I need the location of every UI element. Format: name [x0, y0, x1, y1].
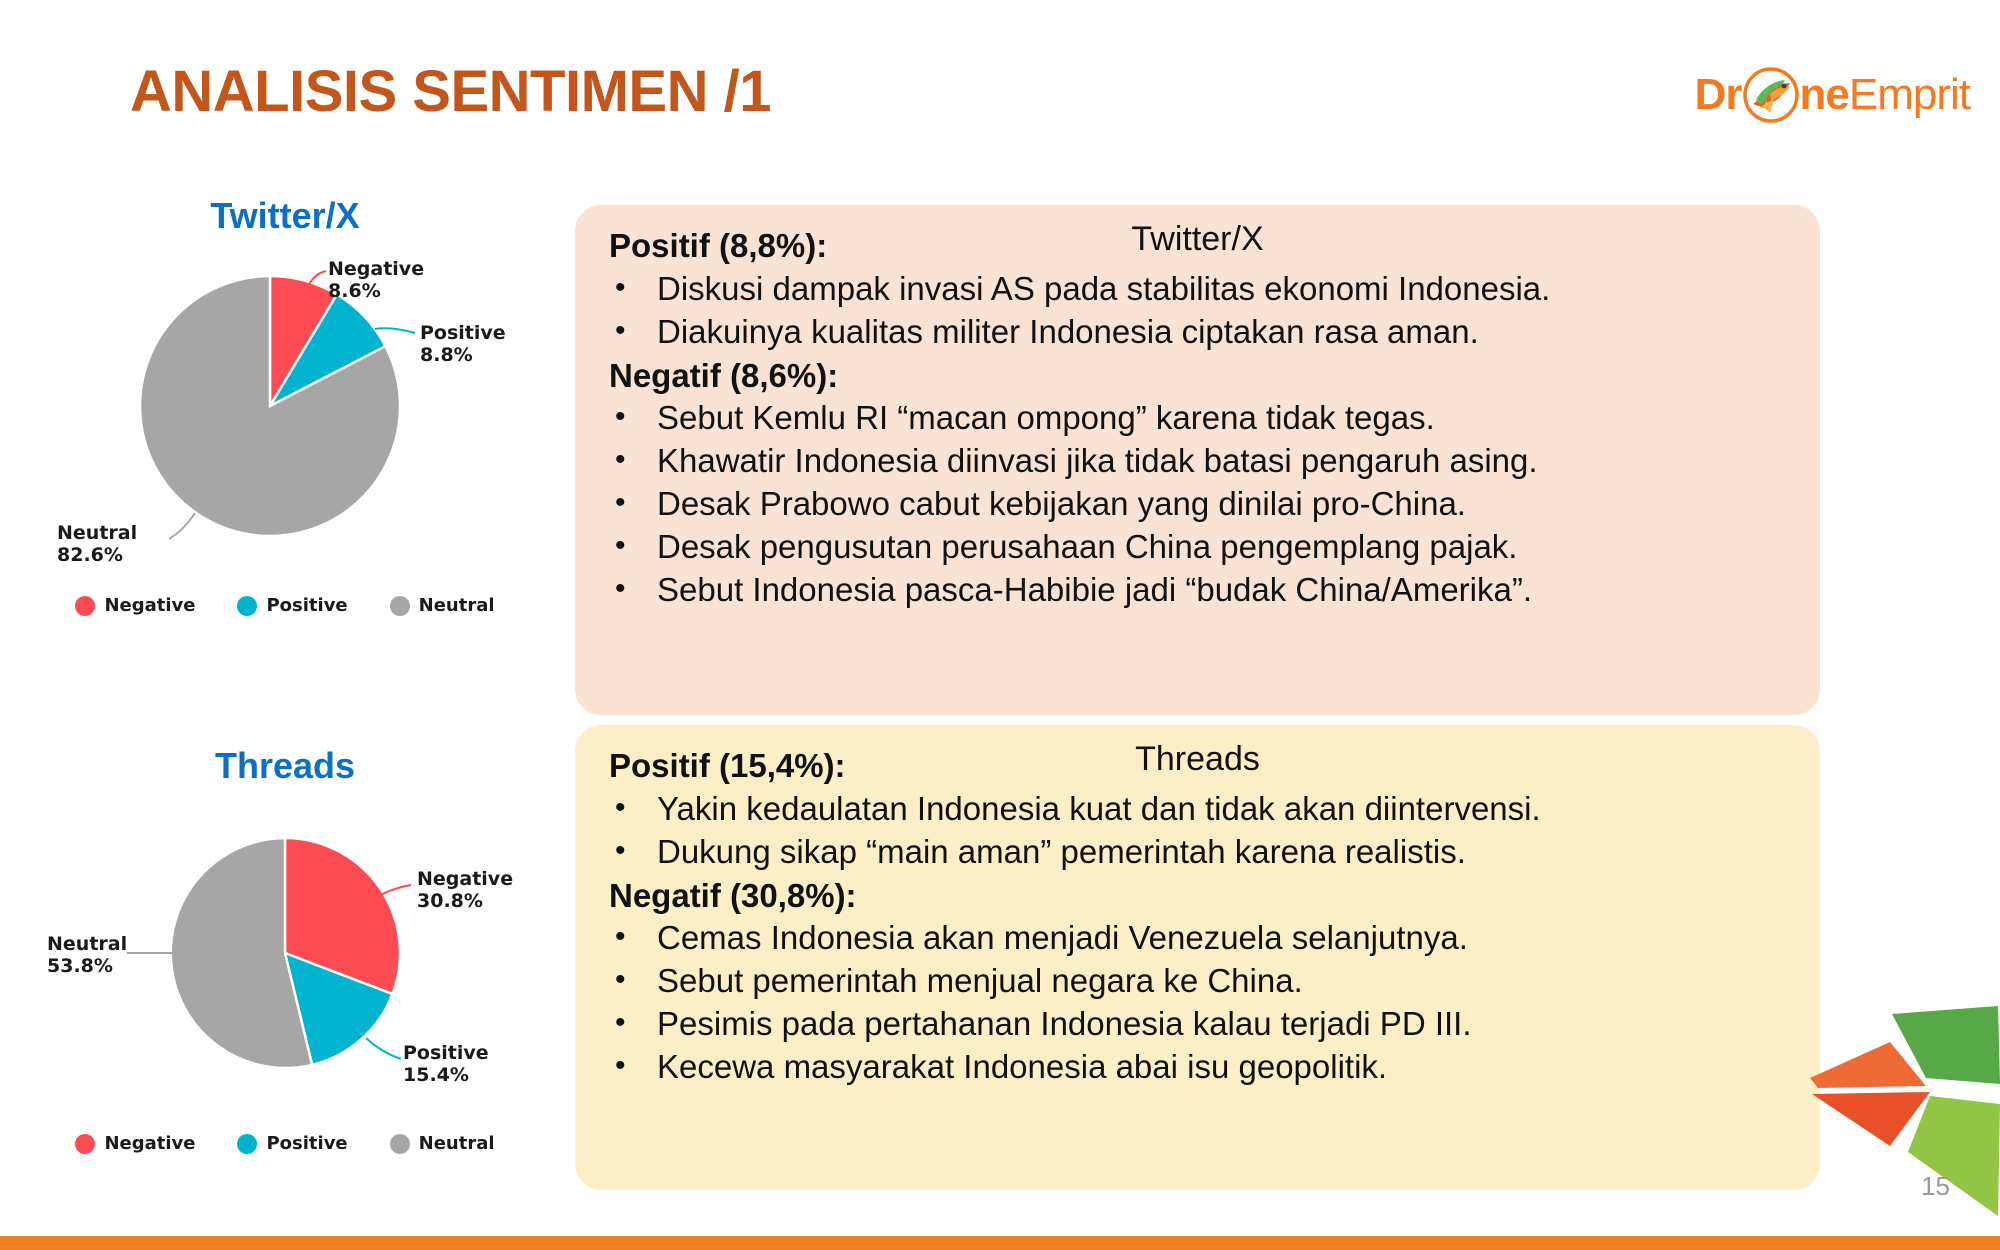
bullet-icon: •: [609, 483, 657, 522]
threads-label-neutral: Neutral 53.8%: [47, 934, 127, 978]
bullet-icon: •: [609, 268, 657, 307]
twitter-label-negative: Negative 8.6%: [328, 259, 424, 303]
list-item: • Diskusi dampak invasi AS pada stabilit…: [609, 268, 1786, 311]
threads-chart-title: Threads: [45, 745, 525, 787]
bullet-icon: •: [609, 960, 657, 999]
bullet-icon: •: [609, 526, 657, 565]
twitter-negative-bullet-3: Desak Prabowo cabut kebijakan yang dinil…: [657, 483, 1466, 526]
bullet-icon: •: [609, 831, 657, 870]
bullet-icon: •: [609, 917, 657, 956]
bottom-accent-bar: [0, 1236, 2000, 1250]
threads-negative-bullet-4: Kecewa masyarakat Indonesia abai isu geo…: [657, 1046, 1387, 1089]
twitter-legend-item-positive[interactable]: Positive: [237, 595, 347, 616]
twitter-pie-area: Negative 8.6% Positive 8.8% Neutral 82.6…: [45, 251, 525, 581]
threads-legend-label-neutral: Neutral: [419, 1133, 495, 1154]
threads-legend-label-positive: Positive: [266, 1133, 347, 1154]
drone-emprit-bird-logo-icon: [1740, 64, 1802, 126]
legend-dot-negative-icon: [75, 1134, 95, 1154]
logo-text-dr: Dr: [1695, 73, 1742, 117]
slide-root: ANALISIS SENTIMEN /1 Dr neEmprit Twitter…: [0, 0, 2000, 1250]
twitter-chart-title: Twitter/X: [45, 195, 525, 237]
threads-label-positive: Positive 15.4%: [403, 1043, 489, 1087]
twitter-legend-label-neutral: Neutral: [419, 595, 495, 616]
twitter-negative-bullet-2: Khawatir Indonesia diinvasi jika tidak b…: [657, 440, 1538, 483]
threads-legend-item-negative[interactable]: Negative: [75, 1133, 195, 1154]
logo-text-emprit: Emprit: [1849, 73, 1970, 117]
twitter-legend-label-positive: Positive: [266, 595, 347, 616]
threads-chart-panel: Threads Negative 30.8% Positive: [45, 745, 525, 1154]
bullet-icon: •: [609, 440, 657, 479]
threads-negative-bullet-1: Cemas Indonesia akan menjadi Venezuela s…: [657, 917, 1468, 960]
list-item: • Desak pengusutan perusahaan China peng…: [609, 526, 1786, 569]
legend-dot-positive-icon: [237, 596, 257, 616]
twitter-leader-neutral: [169, 513, 195, 539]
threads-positive-bullet-1: Yakin kedaulatan Indonesia kuat dan tida…: [657, 788, 1541, 831]
twitter-legend-item-neutral[interactable]: Neutral: [390, 595, 495, 616]
bullet-icon: •: [609, 397, 657, 436]
list-item: • Dukung sikap “main aman” pemerintah ka…: [609, 831, 1786, 874]
legend-dot-negative-icon: [75, 596, 95, 616]
twitter-negative-bullet-1: Sebut Kemlu RI “macan ompong” karena tid…: [657, 397, 1435, 440]
legend-dot-positive-icon: [237, 1134, 257, 1154]
bullet-icon: •: [609, 1046, 657, 1085]
twitter-legend-label-negative: Negative: [104, 595, 195, 616]
page-number: 15: [1921, 1171, 1950, 1202]
threads-legend-item-neutral[interactable]: Neutral: [390, 1133, 495, 1154]
list-item: • Diakuinya kualitas militer Indonesia c…: [609, 311, 1786, 354]
twitter-pie-svg: [45, 251, 525, 561]
list-item: • Sebut Indonesia pasca-Habibie jadi “bu…: [609, 569, 1786, 612]
threads-leader-positive: [366, 1038, 401, 1059]
list-item: • Sebut pemerintah menjual negara ke Chi…: [609, 960, 1786, 1003]
list-item: • Sebut Kemlu RI “macan ompong” karena t…: [609, 397, 1786, 440]
legend-dot-neutral-icon: [390, 596, 410, 616]
twitter-label-neutral: Neutral 82.6%: [57, 523, 137, 567]
threads-label-negative: Negative 30.8%: [417, 869, 513, 913]
threads-pie-area: Negative 30.8% Positive 15.4% Neutral 53…: [45, 803, 525, 1123]
threads-negative-bullet-3: Pesimis pada pertahanan Indonesia kalau …: [657, 1003, 1472, 1046]
threads-legend-item-positive[interactable]: Positive: [237, 1133, 347, 1154]
threads-legend-label-negative: Negative: [104, 1133, 195, 1154]
list-item: • Cemas Indonesia akan menjadi Venezuela…: [609, 917, 1786, 960]
twitter-legend: Negative Positive Neutral: [45, 595, 525, 616]
twitter-negative-bullet-5: Sebut Indonesia pasca-Habibie jadi “buda…: [657, 569, 1532, 612]
list-item: • Yakin kedaulatan Indonesia kuat dan ti…: [609, 788, 1786, 831]
bullet-icon: •: [609, 788, 657, 827]
corner-petal-decoration-icon: [1740, 1006, 2000, 1236]
threads-negative-label: Negatif (30,8%):: [609, 874, 1786, 918]
twitter-legend-item-negative[interactable]: Negative: [75, 595, 195, 616]
page-title: ANALISIS SENTIMEN /1: [130, 58, 771, 125]
twitter-insight-box: Twitter/X Positif (8,8%): • Diskusi damp…: [575, 205, 1820, 715]
list-item: • Desak Prabowo cabut kebijakan yang din…: [609, 483, 1786, 526]
threads-negative-bullet-2: Sebut pemerintah menjual negara ke China…: [657, 960, 1303, 1003]
twitter-leader-positive: [375, 328, 415, 333]
twitter-positive-bullet-1: Diskusi dampak invasi AS pada stabilitas…: [657, 268, 1550, 311]
list-item: • Kecewa masyarakat Indonesia abai isu g…: [609, 1046, 1786, 1089]
bullet-icon: •: [609, 569, 657, 608]
twitter-negative-label: Negatif (8,6%):: [609, 354, 1786, 398]
list-item: • Pesimis pada pertahanan Indonesia kala…: [609, 1003, 1786, 1046]
threads-legend: Negative Positive Neutral: [45, 1133, 525, 1154]
threads-insight-box: Threads Positif (15,4%): • Yakin kedaula…: [575, 725, 1820, 1190]
twitter-negative-bullet-4: Desak pengusutan perusahaan China pengem…: [657, 526, 1517, 569]
twitter-positive-bullet-2: Diakuinya kualitas militer Indonesia cip…: [657, 311, 1479, 354]
threads-positive-bullet-2: Dukung sikap “main aman” pemerintah kare…: [657, 831, 1466, 874]
bullet-icon: •: [609, 311, 657, 350]
legend-dot-neutral-icon: [390, 1134, 410, 1154]
bullet-icon: •: [609, 1003, 657, 1042]
logo-text-ne: ne: [1800, 73, 1849, 117]
twitter-label-positive: Positive 8.8%: [420, 323, 506, 367]
drone-emprit-logo: Dr neEmprit: [1695, 60, 1970, 130]
logo-text: Dr neEmprit: [1695, 64, 1970, 126]
twitter-chart-panel: Twitter/X Negative 8.6% Positive: [45, 195, 525, 616]
list-item: • Khawatir Indonesia diinvasi jika tidak…: [609, 440, 1786, 483]
